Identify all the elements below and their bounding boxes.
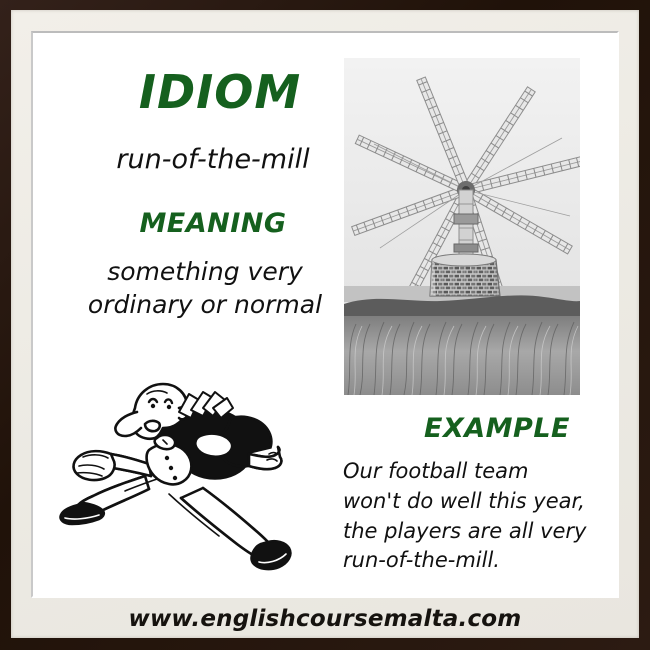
page-title: IDIOM bbox=[85, 69, 355, 115]
footer-url: www.englishcoursemalta.com bbox=[0, 606, 650, 632]
example-line-4: run-of-the-mill. bbox=[343, 546, 593, 576]
example-heading: EXAMPLE bbox=[377, 413, 617, 444]
example-text: Our football team won't do well this yea… bbox=[343, 457, 593, 576]
example-line-3: the players are all very bbox=[343, 517, 593, 547]
content-panel: IDIOM run-of-the-mill MEANING something … bbox=[33, 33, 617, 596]
idiom-phrase: run-of-the-mill bbox=[63, 145, 363, 175]
meaning-heading: MEANING bbox=[73, 208, 353, 239]
meaning-line-1: something very bbox=[55, 255, 355, 288]
idiom-poster: IDIOM run-of-the-mill MEANING something … bbox=[0, 0, 650, 650]
example-line-1: Our football team bbox=[343, 457, 593, 487]
windmill-photo bbox=[344, 58, 580, 395]
example-line-2: won't do well this year, bbox=[343, 487, 593, 517]
meaning-text: something very ordinary or normal bbox=[55, 255, 355, 321]
meaning-line-2: ordinary or normal bbox=[55, 288, 355, 321]
running-man-cartoon bbox=[53, 358, 323, 583]
